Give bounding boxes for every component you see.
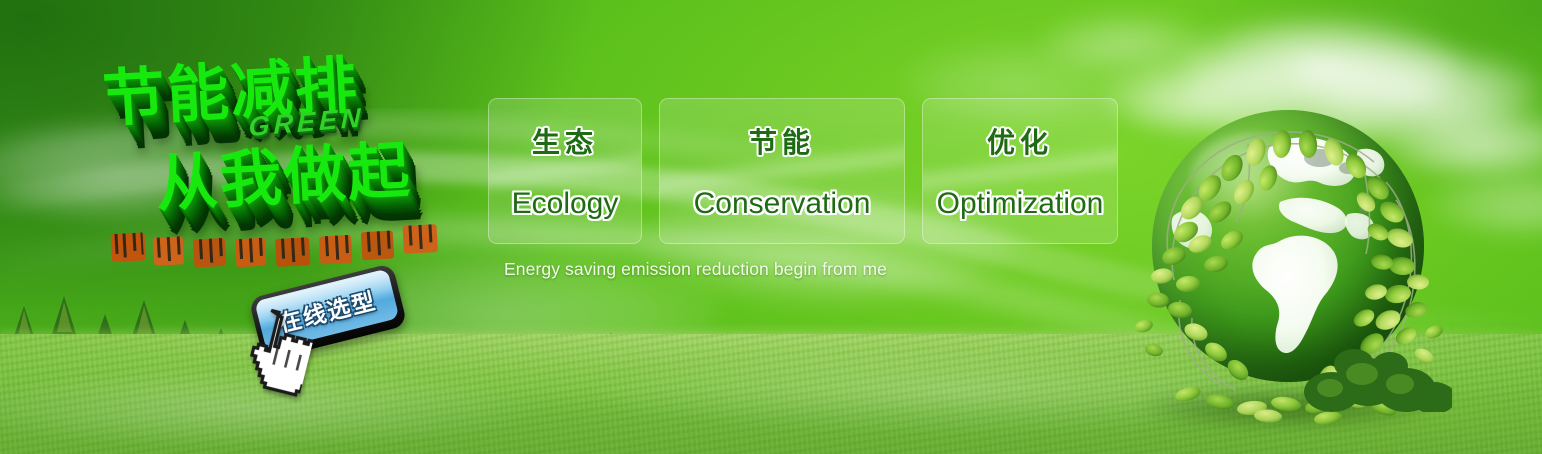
feature-card-optimization[interactable]: 优化 Optimization	[922, 98, 1118, 244]
globe-highlight	[1190, 132, 1321, 224]
feature-card-conservation[interactable]: 节能 Conservation	[659, 98, 905, 244]
feature-card-cn-label: 生态	[532, 121, 598, 161]
globe-sphere	[1152, 110, 1424, 382]
globe-shadow	[1146, 388, 1428, 428]
leafy-globe-icon	[1128, 104, 1446, 434]
feature-card-en-label: Ecology	[512, 187, 619, 221]
tagline-text: Energy saving emission reduction begin f…	[504, 259, 887, 280]
feature-card-ecology[interactable]: 生态 Ecology	[488, 98, 642, 244]
feature-card-en-label: Optimization	[937, 187, 1104, 221]
feature-card-en-label: Conservation	[694, 187, 871, 221]
feature-card-cn-label: 优化	[987, 121, 1053, 161]
eco-promo-banner: 节能减排 GREEN 从我做起	[0, 0, 1542, 454]
feature-card-list: 生态 Ecology 节能 Conservation 优化 Optimizati…	[488, 98, 1118, 244]
feature-card-cn-label: 节能	[749, 121, 815, 161]
headline-3d: 节能减排 GREEN 从我做起	[86, 23, 498, 275]
